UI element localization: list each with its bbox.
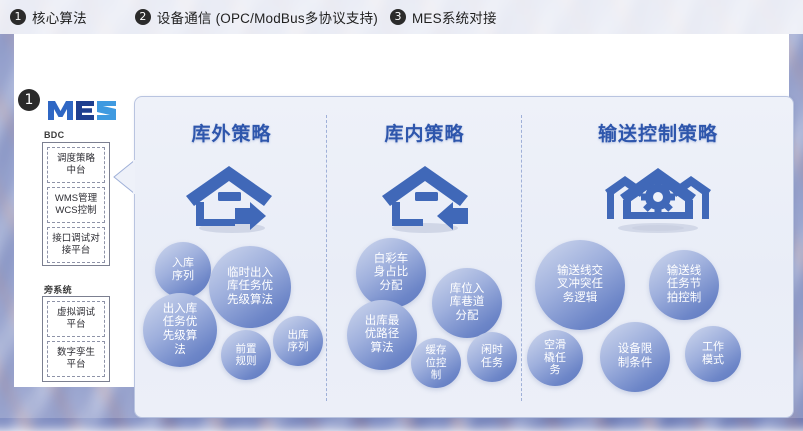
- column-title: 输送控制策略: [523, 119, 793, 146]
- column-title: 库内策略: [328, 119, 521, 146]
- bubble-cloud-column-1: 入库序列 临时出入库任务优先级算法 出入库任务优先级算法 前置规则 出库序列: [137, 238, 326, 388]
- bubble-line: 务逻辑: [557, 292, 603, 306]
- bubble-line: 任务优: [163, 316, 198, 330]
- node-line: 中台: [66, 165, 85, 177]
- bubble-inout-task-priority-algorithm[interactable]: 出入库任务优先级算法: [143, 293, 217, 367]
- bubble-line: 算法: [365, 342, 400, 356]
- caption-item-3: 3 MES系统对接: [390, 7, 497, 27]
- bubble-line: 模式: [702, 354, 724, 367]
- caption-label-3: MES系统对接: [412, 7, 497, 27]
- bubble-line: 设备限: [618, 343, 653, 357]
- bubble-line: 务: [544, 364, 566, 377]
- bubble-line: 输送线交: [557, 265, 603, 279]
- caption-number-badge-2: 2: [135, 9, 151, 25]
- bubble-white-color-body-ratio-allocation[interactable]: 白彩车身占比分配: [356, 238, 426, 308]
- caption-number-badge-3: 3: [390, 9, 406, 25]
- bubble-line: 空滑: [544, 339, 566, 352]
- bubble-outbound-sequence[interactable]: 出库序列: [273, 316, 323, 366]
- sidebar-node-scheduling-platform[interactable]: 调度策略 中台: [47, 147, 105, 183]
- bubble-buffer-position-control[interactable]: 缓存位控制: [411, 338, 461, 388]
- strategy-column-inside-warehouse: 库内策略 白彩车身占比分配 库位入库巷道分配 出库最优路径算法: [328, 97, 521, 419]
- bubble-working-mode[interactable]: 工作模式: [685, 326, 741, 382]
- column-title: 库外策略: [137, 119, 326, 146]
- caption-number-badge-1: 1: [10, 9, 26, 25]
- bubble-line: 缓存: [426, 344, 447, 356]
- sidebar-node-virtual-commissioning-platform[interactable]: 虚拟调试 平台: [47, 301, 105, 337]
- bubble-cloud-column-3: 输送线交叉冲突任务逻辑 输送线任务节拍控制 空滑橇任务 设备限制条件 工作模式: [523, 238, 793, 388]
- bubble-line: 橇任: [544, 352, 566, 365]
- sidebar-group-side-systems: 虚拟调试 平台 数字孪生 平台: [42, 296, 110, 382]
- bubble-line: 叉冲突任: [557, 278, 603, 292]
- bubble-line: 入库: [172, 257, 194, 270]
- bubble-line: 任务: [481, 357, 503, 370]
- bubble-line: 序列: [172, 270, 194, 283]
- bubble-line: 库巷道: [450, 296, 485, 310]
- bubble-storage-inbound-aisle-allocation[interactable]: 库位入库巷道分配: [432, 268, 502, 338]
- bubble-line: 库任务优: [227, 280, 273, 294]
- bubble-line: 输送线: [667, 265, 702, 279]
- bubble-line: 闲时: [481, 344, 503, 357]
- bubble-line: 白彩车: [374, 253, 409, 267]
- caption-label-1: 核心算法: [32, 7, 87, 27]
- caption-item-2: 2 设备通信 (OPC/ModBus多协议支持): [135, 7, 378, 27]
- bubble-cloud-column-2: 白彩车身占比分配 库位入库巷道分配 出库最优路径算法 缓存位控制 闲时任务: [328, 238, 521, 388]
- bubble-line: 制: [426, 369, 447, 381]
- node-line: 虚拟调试: [57, 307, 95, 319]
- panel-callout-arrow-icon: [112, 160, 135, 194]
- sidebar-group-label-side-systems: 旁系统: [44, 283, 72, 296]
- node-line: WMS管理: [55, 193, 97, 205]
- caption-item-1: 1 核心算法: [10, 7, 87, 27]
- bubble-line: 临时出入: [227, 267, 273, 281]
- node-line: WCS控制: [55, 205, 96, 217]
- bubble-line: 法: [163, 344, 198, 358]
- section-number-badge: 1: [18, 89, 40, 111]
- warehouse-inbound-icon: [328, 162, 521, 234]
- caption-label-2: 设备通信 (OPC/ModBus多协议支持): [157, 7, 378, 27]
- sidebar-node-digital-twin-platform[interactable]: 数字孪生 平台: [47, 341, 105, 377]
- bubble-line: 出库最: [365, 315, 400, 329]
- bubble-temp-inout-task-priority-algorithm[interactable]: 临时出入库任务优先级算法: [209, 246, 291, 328]
- bubble-outbound-optimal-path-algorithm[interactable]: 出库最优路径算法: [347, 300, 417, 370]
- bubble-line: 先级算: [163, 330, 198, 344]
- warehouse-outbound-icon: [137, 162, 326, 234]
- sidebar-group-label-bdc: BDC: [44, 130, 64, 140]
- bubble-line: 先级算法: [227, 294, 273, 308]
- bubble-line: 拍控制: [667, 292, 702, 306]
- bubble-line: 库位入: [450, 283, 485, 297]
- content-card: 1 BDC 调度策略 中台 WMS管理 WCS控制 接口调试对 接平台 旁系统: [14, 34, 789, 387]
- bubble-conveyor-task-takt-control[interactable]: 输送线任务节拍控制: [649, 250, 719, 320]
- sidebar-node-interface-debug-platform[interactable]: 接口调试对 接平台: [47, 227, 105, 263]
- mes-logo: [47, 98, 117, 122]
- bubble-empty-skid-task[interactable]: 空滑橇任务: [527, 330, 583, 386]
- top-caption-strip: 1 核心算法 2 设备通信 (OPC/ModBus多协议支持) 3 MES系统对…: [0, 0, 803, 34]
- bubble-line: 优路径: [365, 328, 400, 342]
- warehouse-gear-icon: [523, 162, 793, 234]
- bubble-line: 规则: [236, 355, 257, 367]
- column-divider-2: [521, 115, 522, 401]
- bubble-conveyor-cross-conflict-task-logic[interactable]: 输送线交叉冲突任务逻辑: [535, 240, 625, 330]
- sidebar-node-wms-wcs[interactable]: WMS管理 WCS控制: [47, 187, 105, 223]
- bubble-line: 制条件: [618, 357, 653, 371]
- strategy-panel: 库外策略 入库序列 临时出入库任务优先级算法 出入库任务优先级: [134, 96, 794, 418]
- node-line: 接平台: [62, 245, 91, 257]
- bubble-line: 分配: [374, 280, 409, 294]
- node-line: 调度策略: [57, 153, 95, 165]
- bubble-line: 位控: [426, 357, 447, 369]
- bubble-line: 身占比: [374, 266, 409, 280]
- node-line: 平台: [66, 319, 85, 331]
- bubble-line: 前置: [236, 343, 257, 355]
- bubble-equipment-constraints[interactable]: 设备限制条件: [600, 322, 670, 392]
- node-line: 接口调试对: [52, 233, 100, 245]
- bubble-inbound-sequence[interactable]: 入库序列: [155, 242, 211, 298]
- bubble-line: 出入库: [163, 303, 198, 317]
- bubble-line: 任务节: [667, 278, 702, 292]
- strategy-column-conveyor-control: 输送控制策略: [523, 97, 793, 419]
- bubble-line: 序列: [288, 341, 309, 353]
- node-line: 平台: [66, 359, 85, 371]
- bubble-idle-time-task[interactable]: 闲时任务: [467, 332, 517, 382]
- column-divider-1: [326, 115, 327, 401]
- bubble-line: 分配: [450, 310, 485, 324]
- bubble-line: 出库: [288, 329, 309, 341]
- bubble-line: 工作: [702, 341, 724, 354]
- bubble-preset-rules[interactable]: 前置规则: [221, 330, 271, 380]
- sidebar-group-bdc: 调度策略 中台 WMS管理 WCS控制 接口调试对 接平台: [42, 142, 110, 266]
- node-line: 数字孪生: [57, 347, 95, 359]
- strategy-column-outside-warehouse: 库外策略 入库序列 临时出入库任务优先级算法 出入库任务优先级: [137, 97, 326, 419]
